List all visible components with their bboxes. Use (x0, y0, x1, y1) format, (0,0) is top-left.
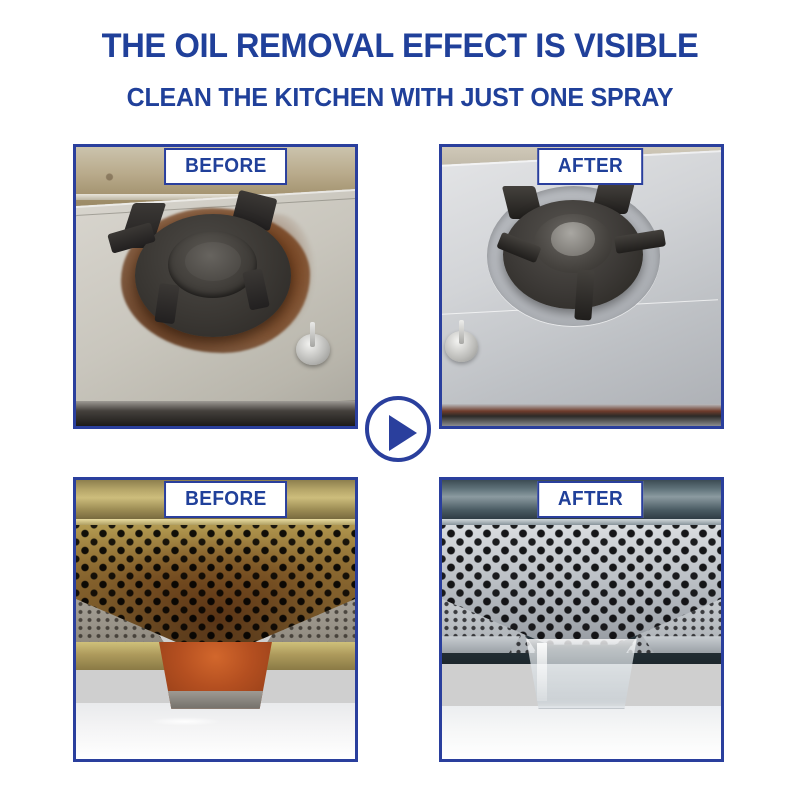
cooktop-front-edge (76, 401, 355, 426)
heading-block: THE OIL REMOVAL EFFECT IS VISIBLE CLEAN … (0, 26, 800, 114)
before-label-text: BEFORE (185, 488, 266, 510)
cooktop-front-edge (442, 404, 721, 426)
burner-prong (574, 269, 594, 320)
after-label-chip: AFTER (537, 481, 644, 518)
before-photo-range-hood (76, 480, 355, 759)
page-subtitle: CLEAN THE KITCHEN WITH JUST ONE SPRAY (16, 80, 784, 114)
after-label-text: AFTER (557, 155, 622, 177)
after-label-chip: AFTER (537, 148, 644, 185)
burner-cap-center (185, 242, 241, 281)
stove-control-knob (296, 334, 329, 365)
page-title: THE OIL REMOVAL EFFECT IS VISIBLE (16, 26, 784, 66)
before-photo-frame-range-hood: BEFORE (73, 477, 358, 762)
after-label-text: AFTER (557, 488, 622, 510)
countertop (76, 703, 355, 759)
before-label-chip: BEFORE (164, 481, 288, 518)
before-photo-frame-gas-stove: BEFORE (73, 144, 358, 429)
before-label-text: BEFORE (185, 155, 266, 177)
after-photo-frame-range-hood: AFTER (439, 477, 724, 762)
after-photo-gas-stove (442, 147, 721, 426)
oil-collector-cup (154, 642, 277, 709)
product-comparison-page: THE OIL REMOVAL EFFECT IS VISIBLE CLEAN … (0, 0, 800, 800)
before-label-chip: BEFORE (164, 148, 288, 185)
stove-control-knob (445, 331, 478, 362)
after-photo-range-hood (442, 480, 721, 759)
after-photo-frame-gas-stove: AFTER (439, 144, 724, 429)
play-arrow-icon (365, 396, 431, 462)
comparison-row-range-hood: BEFORE AFTER (0, 477, 800, 762)
burner-cap-center (551, 222, 596, 255)
comparison-row-gas-stove: BEFORE (0, 144, 800, 429)
before-photo-gas-stove (76, 147, 355, 426)
play-arrow-glyph (389, 415, 419, 451)
countertop (442, 706, 721, 759)
oil-collector-cup (520, 639, 643, 709)
